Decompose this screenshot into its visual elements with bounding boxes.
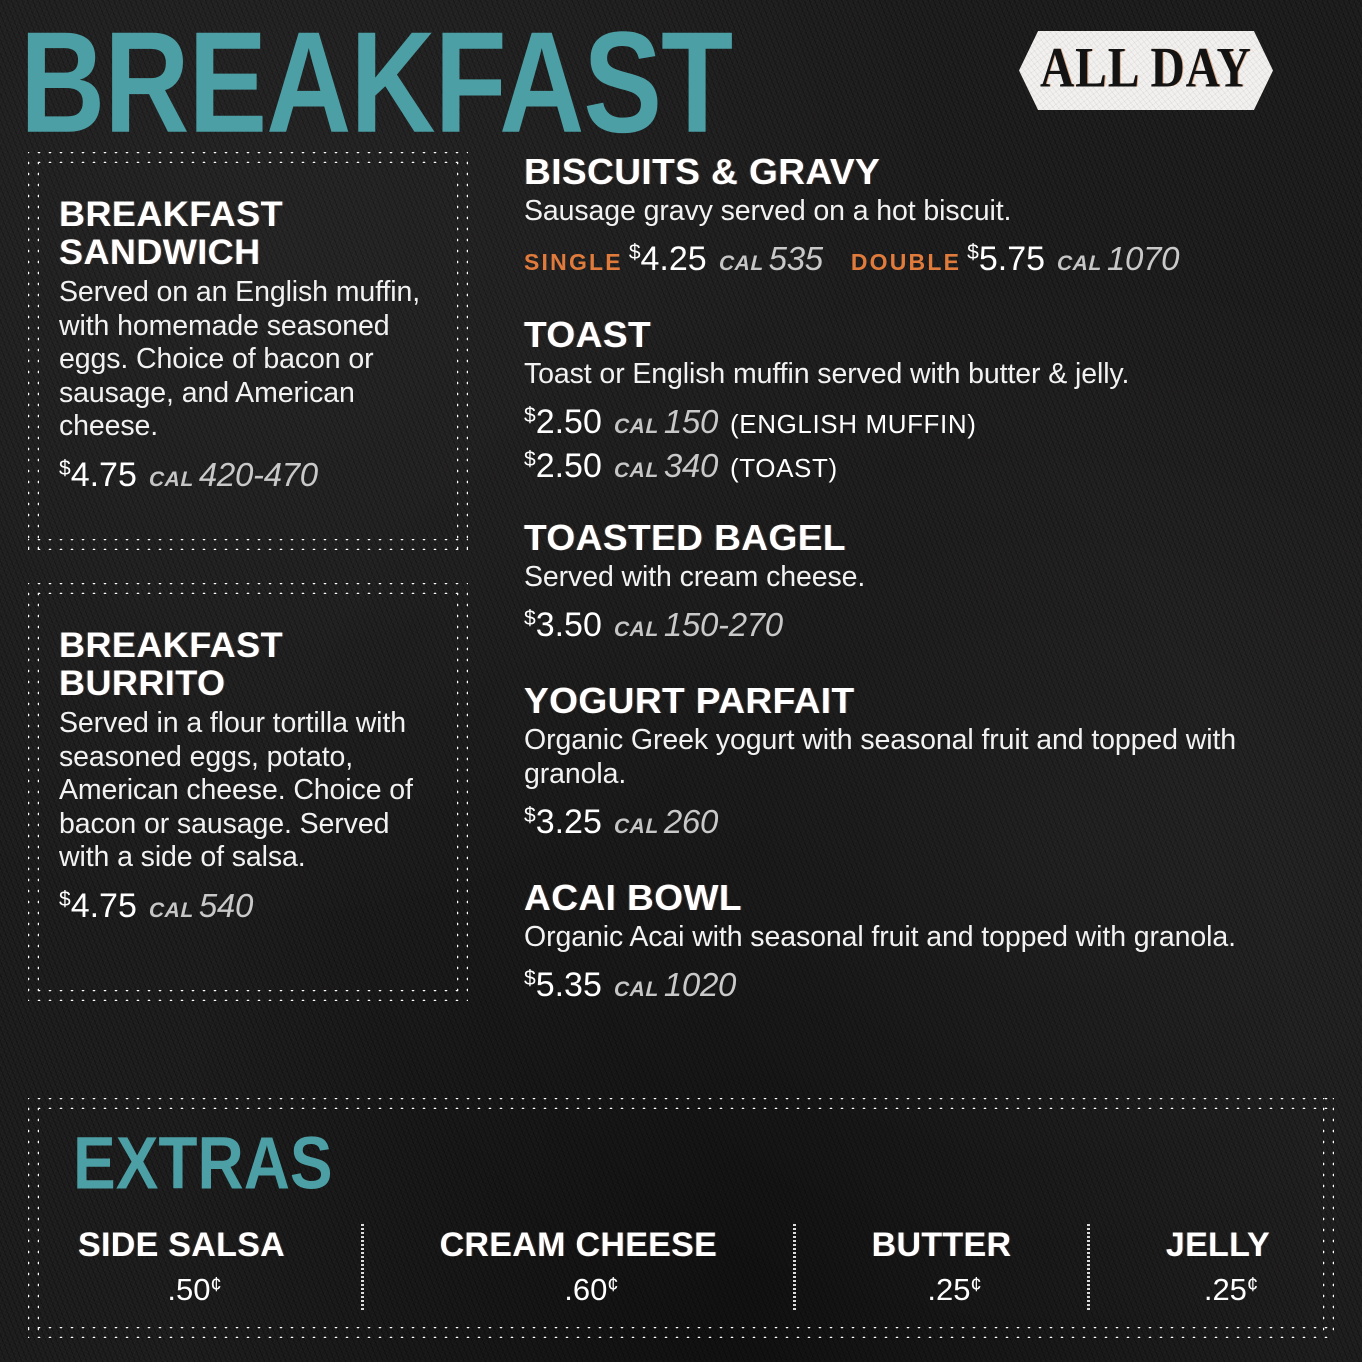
cal-value: 340 bbox=[664, 447, 718, 484]
price-value: 2.50 bbox=[536, 447, 602, 485]
item-price: $5.35 bbox=[524, 966, 602, 1004]
extra-price-value: .50 bbox=[167, 1272, 210, 1307]
item-title: BREAKFAST SANDWICH bbox=[59, 196, 456, 272]
extra-price-value: .25 bbox=[927, 1272, 970, 1307]
item-price: $2.50 bbox=[524, 447, 602, 485]
menu-item-acai-bowl: ACAI BOWL Organic Acai with seasonal fru… bbox=[524, 878, 1334, 1005]
menu-item-toast: TOAST Toast or English muffin served wit… bbox=[524, 315, 1334, 486]
cent-symbol: ¢ bbox=[607, 1274, 618, 1296]
cal-label: CAL bbox=[718, 252, 764, 276]
extra-price-value: .60 bbox=[564, 1272, 607, 1307]
variant-tag-double: DOUBLE bbox=[851, 249, 961, 275]
menu-header: BREAKFAST ALL DAY bbox=[0, 0, 1362, 150]
item-price: $2.50 bbox=[524, 403, 602, 441]
currency-symbol: $ bbox=[629, 241, 641, 264]
item-price-line: $5.35CAL1020 bbox=[524, 959, 1334, 1005]
currency-symbol: $ bbox=[524, 967, 536, 990]
price-value: 5.75 bbox=[979, 240, 1045, 278]
currency-symbol: $ bbox=[59, 888, 71, 911]
cal-value: 1070 bbox=[1107, 240, 1179, 277]
item-description: Served on an English muffin, with homema… bbox=[59, 276, 444, 444]
item-title: ACAI BOWL bbox=[524, 878, 1358, 918]
currency-symbol: $ bbox=[524, 404, 536, 427]
item-title: TOAST bbox=[524, 315, 1358, 355]
item-description: Sausage gravy served on a hot biscuit. bbox=[524, 194, 1334, 228]
cal-label: CAL bbox=[613, 459, 659, 483]
item-price-line: SINGLE$4.25CAL535DOUBLE$5.75CAL1070 bbox=[524, 233, 1334, 279]
price-value: 4.25 bbox=[641, 240, 707, 278]
item-price: $3.25 bbox=[524, 803, 602, 841]
item-price-line: $4.75CAL420-470 bbox=[59, 449, 444, 495]
extras-divider bbox=[361, 1224, 364, 1310]
currency-symbol: $ bbox=[524, 448, 536, 471]
item-description: Organic Acai with seasonal fruit and top… bbox=[524, 920, 1334, 954]
item-title-line1: BREAKFAST bbox=[59, 627, 456, 665]
item-price: $4.75 bbox=[59, 456, 137, 494]
item-description: Toast or English muffin served with butt… bbox=[524, 357, 1334, 391]
extra-item-jelly: JELLY .25¢ bbox=[1166, 1222, 1270, 1309]
extras-row: SIDE SALSA .50¢ CREAM CHEESE .60¢ BUTTER… bbox=[48, 1222, 1314, 1322]
menu-item-breakfast-burrito: BREAKFAST BURRITO Served in a flour tort… bbox=[28, 583, 468, 1001]
page-title: BREAKFAST bbox=[20, 11, 732, 155]
item-title: TOASTED BAGEL bbox=[524, 518, 1358, 558]
all-day-badge-label: ALL DAY bbox=[1040, 40, 1252, 100]
cal-label: CAL bbox=[613, 618, 659, 642]
item-description: Served with cream cheese. bbox=[524, 560, 1334, 594]
extra-name: SIDE SALSA bbox=[78, 1226, 285, 1264]
price-value: 5.35 bbox=[536, 966, 602, 1004]
cent-symbol: ¢ bbox=[211, 1274, 222, 1296]
extra-price-value: .25 bbox=[1204, 1272, 1247, 1307]
item-price-double: $5.75 bbox=[967, 240, 1045, 278]
currency-symbol: $ bbox=[524, 804, 536, 827]
item-price-line: $2.50CAL340(TOAST) bbox=[524, 440, 1334, 486]
extra-item-side-salsa: SIDE SALSA .50¢ bbox=[78, 1222, 285, 1309]
extra-name: CREAM CHEESE bbox=[440, 1226, 718, 1264]
extras-section: EXTRAS SIDE SALSA .50¢ CREAM CHEESE .60¢… bbox=[28, 1098, 1334, 1338]
all-day-badge: ALL DAY bbox=[1019, 31, 1273, 110]
item-price-single: $4.25 bbox=[629, 240, 707, 278]
extra-price: .25¢ bbox=[927, 1266, 981, 1309]
extras-divider bbox=[793, 1224, 796, 1310]
extra-price: .25¢ bbox=[1204, 1266, 1258, 1309]
cal-value: 150-270 bbox=[664, 606, 783, 643]
price-value: 4.75 bbox=[71, 456, 137, 494]
cal-label: CAL bbox=[1057, 252, 1103, 276]
cal-value: 535 bbox=[769, 240, 823, 277]
currency-symbol: $ bbox=[967, 241, 979, 264]
extra-item-butter: BUTTER .25¢ bbox=[872, 1222, 1012, 1309]
cent-symbol: ¢ bbox=[1247, 1274, 1258, 1296]
cal-label: CAL bbox=[148, 899, 194, 923]
breakfast-menu-board: BREAKFAST ALL DAY BREAKFAST SANDWICH Ser… bbox=[0, 0, 1362, 1362]
item-price-line: $3.50CAL150-270 bbox=[524, 599, 1334, 645]
item-price: $4.75 bbox=[59, 887, 137, 925]
extra-name: BUTTER bbox=[872, 1226, 1012, 1264]
cal-value: 260 bbox=[664, 803, 718, 840]
cal-label: CAL bbox=[613, 415, 659, 439]
item-title: BISCUITS & GRAVY bbox=[524, 152, 1358, 192]
extras-divider bbox=[1087, 1224, 1090, 1310]
price-value: 3.50 bbox=[536, 606, 602, 644]
price-note: (ENGLISH MUFFIN) bbox=[730, 409, 976, 439]
cal-label: CAL bbox=[613, 815, 659, 839]
item-price-line: $3.25CAL260 bbox=[524, 796, 1334, 842]
menu-item-breakfast-sandwich: BREAKFAST SANDWICH Served on an English … bbox=[28, 152, 468, 550]
variant-tag-single: SINGLE bbox=[524, 249, 623, 275]
currency-symbol: $ bbox=[524, 607, 536, 630]
item-title-line1: BREAKFAST bbox=[59, 196, 456, 234]
price-value: 3.25 bbox=[536, 803, 602, 841]
item-title-line2: SANDWICH bbox=[59, 234, 456, 272]
currency-symbol: $ bbox=[59, 457, 71, 480]
cal-value: 420-470 bbox=[199, 456, 318, 493]
item-description: Served in a flour tortilla with seasoned… bbox=[59, 707, 444, 875]
item-title: YOGURT PARFAIT bbox=[524, 681, 1358, 721]
menu-item-biscuits-and-gravy: BISCUITS & GRAVY Sausage gravy served on… bbox=[524, 152, 1334, 279]
extra-name: JELLY bbox=[1166, 1226, 1270, 1264]
cal-label: CAL bbox=[148, 468, 194, 492]
extra-price: .60¢ bbox=[564, 1266, 618, 1309]
extra-item-cream-cheese: CREAM CHEESE .60¢ bbox=[440, 1222, 718, 1309]
right-menu-column: BISCUITS & GRAVY Sausage gravy served on… bbox=[524, 152, 1334, 1005]
item-description: Organic Greek yogurt with seasonal fruit… bbox=[524, 723, 1334, 791]
item-title: BREAKFAST BURRITO bbox=[59, 627, 456, 703]
cal-label: CAL bbox=[613, 978, 659, 1002]
item-title-line2: BURRITO bbox=[59, 665, 456, 703]
price-note: (TOAST) bbox=[730, 453, 838, 483]
menu-item-yogurt-parfait: YOGURT PARFAIT Organic Greek yogurt with… bbox=[524, 681, 1334, 842]
extras-title: EXTRAS bbox=[73, 1126, 333, 1200]
menu-item-toasted-bagel: TOASTED BAGEL Served with cream cheese. … bbox=[524, 518, 1334, 645]
cal-value: 150 bbox=[664, 403, 718, 440]
cal-value: 540 bbox=[199, 887, 253, 924]
price-value: 2.50 bbox=[536, 403, 602, 441]
item-price-line: $4.75CAL540 bbox=[59, 880, 444, 926]
cal-value: 1020 bbox=[664, 966, 736, 1003]
item-price-line: $2.50CAL150(ENGLISH MUFFIN) bbox=[524, 396, 1334, 442]
cent-symbol: ¢ bbox=[970, 1274, 981, 1296]
item-price: $3.50 bbox=[524, 606, 602, 644]
extra-price: .50¢ bbox=[167, 1266, 221, 1309]
price-value: 4.75 bbox=[71, 887, 137, 925]
